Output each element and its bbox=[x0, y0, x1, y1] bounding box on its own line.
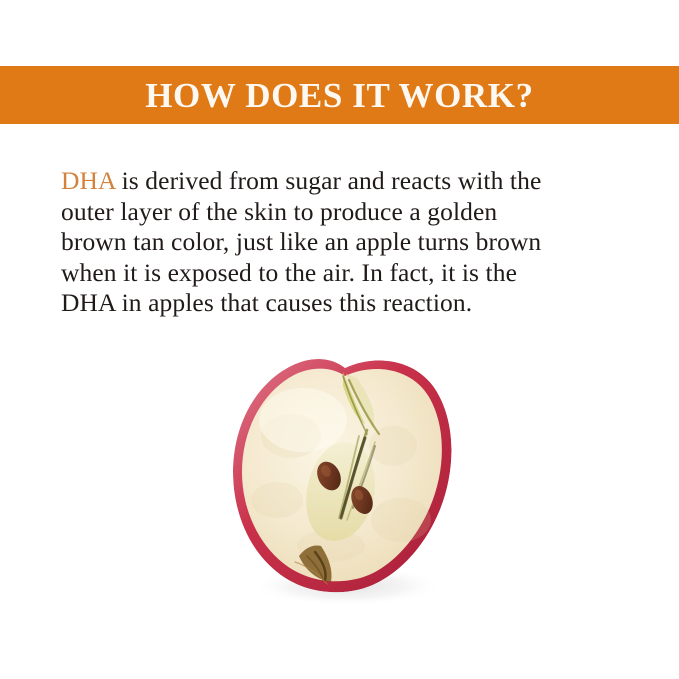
paragraph-line: DHA in apples that causes this reaction. bbox=[61, 288, 631, 319]
paragraph-line: when it is exposed to the air. In fact, … bbox=[61, 258, 631, 289]
paragraph-line-text: brown tan color, just like an apple turn… bbox=[61, 227, 541, 256]
page-title: HOW DOES IT WORK? bbox=[145, 78, 534, 113]
paragraph-line: DHA is derived from sugar and reacts wit… bbox=[61, 166, 631, 197]
keyword-dha-highlight: DHA bbox=[61, 166, 115, 195]
paragraph-line-text: is derived from sugar and reacts with th… bbox=[115, 166, 541, 195]
paragraph-line-text: DHA in apples that causes this reaction. bbox=[61, 288, 472, 317]
paragraph-line-text: when it is exposed to the air. In fact, … bbox=[61, 258, 517, 287]
paragraph-line: brown tan color, just like an apple turn… bbox=[61, 227, 631, 258]
halved-apple-image bbox=[225, 350, 465, 608]
flesh-highlight bbox=[259, 388, 347, 452]
paragraph-line-text: outer layer of the skin to produce a gol… bbox=[61, 197, 497, 226]
header-banner: HOW DOES IT WORK? bbox=[0, 66, 679, 124]
body-paragraph: DHA is derived from sugar and reacts wit… bbox=[61, 166, 631, 319]
paragraph-line: outer layer of the skin to produce a gol… bbox=[61, 197, 631, 228]
